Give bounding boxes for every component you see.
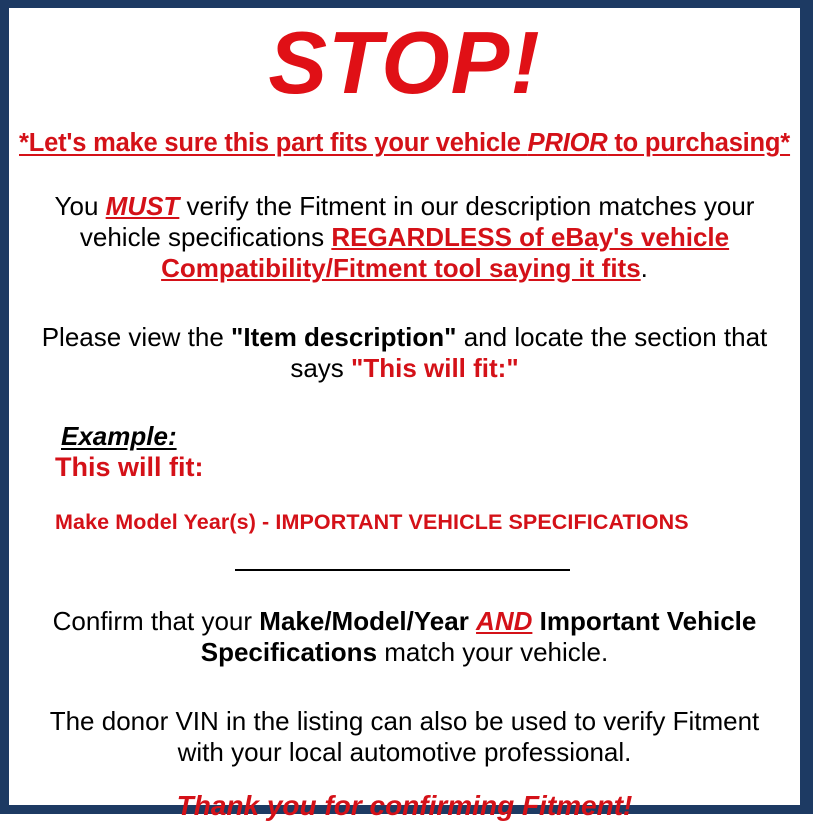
must-emphasis: MUST <box>106 191 180 221</box>
notice-content-area: STOP! *Let's make sure this part fits yo… <box>9 19 800 816</box>
must-seg5: . <box>641 253 648 283</box>
separator-wrap <box>19 558 790 576</box>
must-seg1: You <box>55 191 106 221</box>
paragraph-confirm: Confirm that your Make/Model/Year AND Im… <box>19 606 790 667</box>
this-will-fit-quote: "This will fit:" <box>351 353 519 383</box>
subtitle-banner: *Let's make sure this part fits your veh… <box>19 129 790 158</box>
paragraph-must-verify: You MUST verify the Fitment in our descr… <box>19 191 790 283</box>
fitment-notice-card: STOP! *Let's make sure this part fits yo… <box>0 0 813 814</box>
item-description-emphasis: "Item description" <box>231 322 456 352</box>
thank-you-line: Thank you for confirming Fitment! <box>19 790 790 822</box>
subtitle-text-part2: to purchasing* <box>607 129 790 157</box>
example-block: Example: This will fit: Make Model Year(… <box>19 422 790 536</box>
page-title: STOP! <box>19 19 790 107</box>
and-emphasis: AND <box>476 606 532 636</box>
confirm-seg5: match your vehicle. <box>377 637 608 667</box>
paragraph-donor-vin: The donor VIN in the listing can also be… <box>19 706 790 767</box>
example-spec-line: Make Model Year(s) - IMPORTANT VEHICLE S… <box>55 510 790 536</box>
desc-seg1: Please view the <box>42 322 231 352</box>
subtitle-emphasis-prior: PRIOR <box>528 129 608 157</box>
make-model-year-emphasis: Make/Model/Year <box>259 606 476 636</box>
divider-line <box>235 569 570 571</box>
example-label: Example: <box>61 422 177 451</box>
paragraph-item-description: Please view the "Item description" and l… <box>19 322 790 383</box>
subtitle-text-part1: *Let's make sure this part fits your veh… <box>19 129 528 157</box>
confirm-seg1: Confirm that your <box>53 606 260 636</box>
example-fit-heading: This will fit: <box>55 452 790 483</box>
